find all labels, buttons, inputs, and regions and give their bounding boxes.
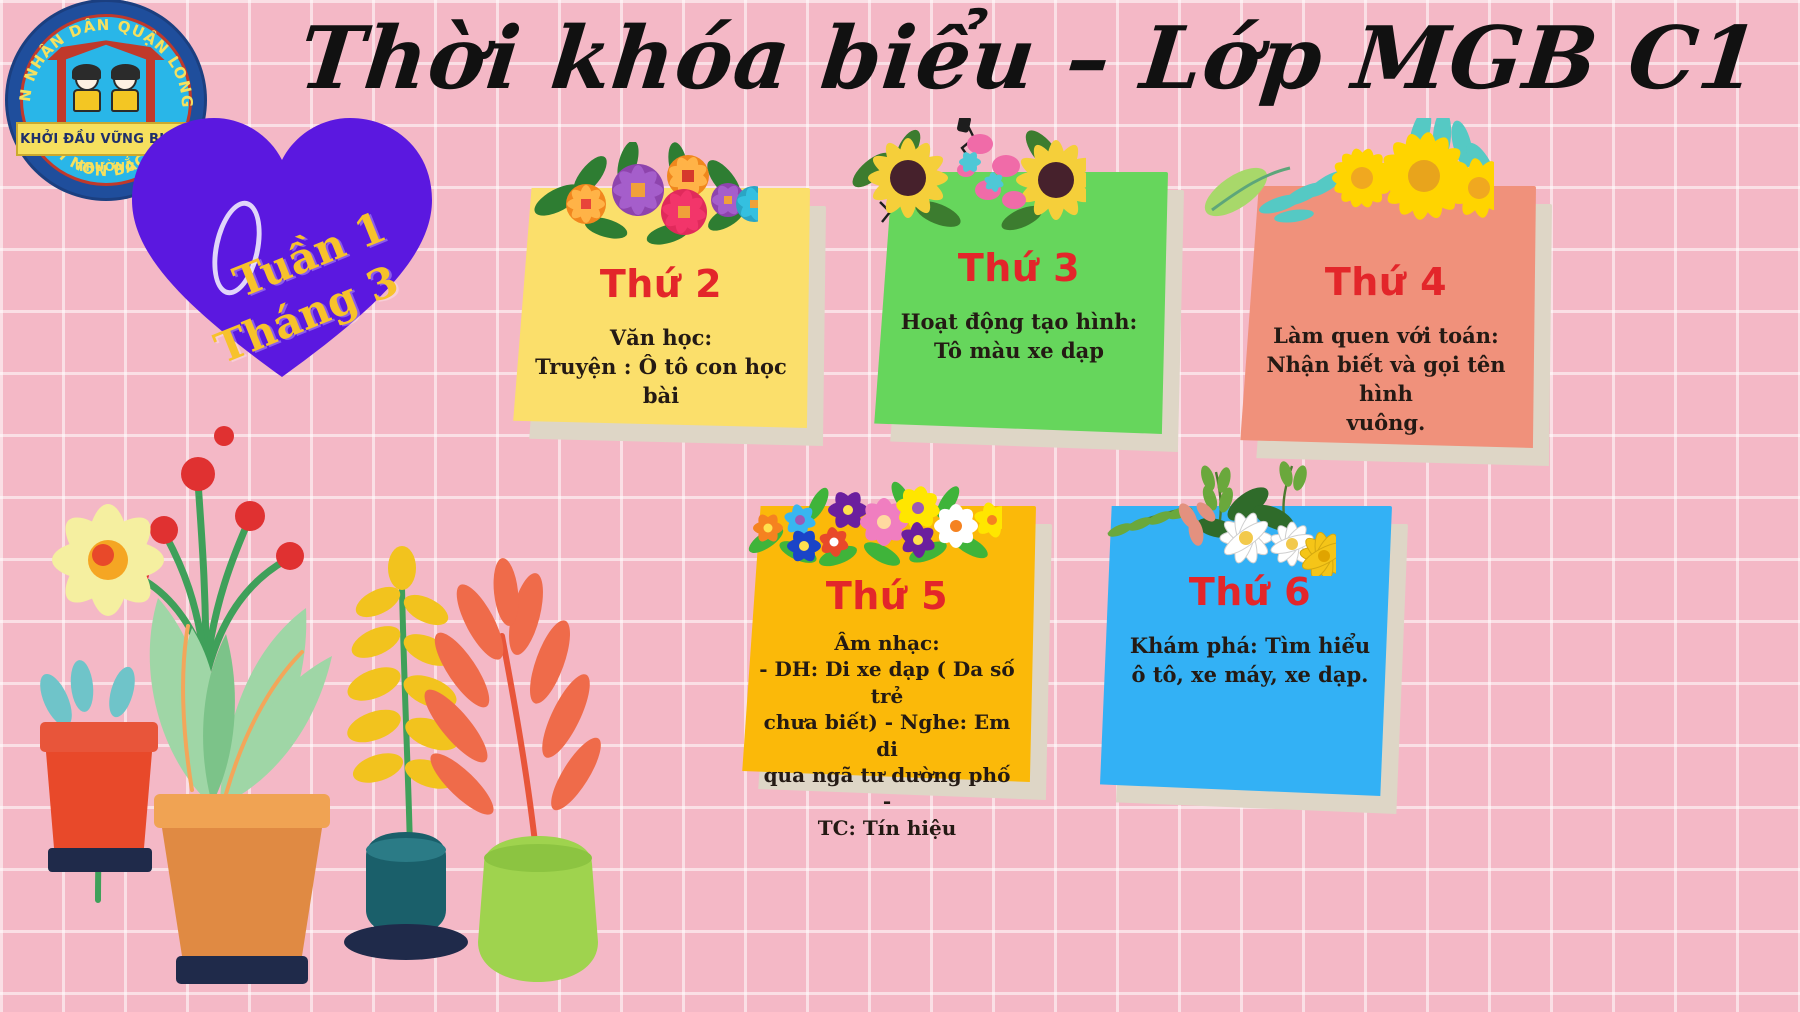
body-line: Hoạt động tạo hình: — [901, 308, 1138, 337]
body-line: Âm nhạc: — [756, 630, 1018, 656]
body-line: Tô màu xe dạp — [901, 337, 1138, 366]
day-card-thu-6[interactable]: Thứ 6 Khám phá: Tìm hiểu ô tô, xe máy, x… — [1100, 506, 1392, 796]
body-line: Nhận biết và gọi tên hình — [1254, 351, 1518, 409]
day-body: Làm quen với toán: Nhận biết và gọi tên … — [1254, 322, 1518, 438]
day-heading: Thứ 4 — [1325, 260, 1447, 304]
week-badge: Tuần 1 Tháng 3 — [132, 112, 432, 382]
body-line: Làm quen với toán: — [1254, 322, 1518, 351]
day-card-thu-5[interactable]: Thứ 5 Âm nhạc: - DH: Di xe dạp ( Da số t… — [730, 506, 1036, 782]
day-body: Khám phá: Tìm hiểu ô tô, xe máy, xe dạp. — [1130, 632, 1370, 690]
schedule-poster: ỦY BAN NHÂN DÂN QUẬN LONG BIÊN MẦM NON B… — [0, 0, 1800, 1012]
body-line: ô tô, xe máy, xe dạp. — [1130, 661, 1370, 690]
day-heading: Thứ 2 — [600, 262, 722, 306]
day-heading: Thứ 5 — [826, 574, 948, 618]
page-title: Thời khóa biểu – Lớp MGB C1 — [295, 14, 1364, 104]
body-line: vuông. — [1254, 409, 1518, 438]
body-line: Văn học: — [535, 324, 787, 353]
day-body: Âm nhạc: - DH: Di xe dạp ( Da số trẻ chư… — [756, 630, 1018, 841]
day-card-thu-3[interactable]: Thứ 3 Hoạt động tạo hình: Tô màu xe dạp — [862, 172, 1168, 434]
body-line: - DH: Di xe dạp ( Da số trẻ — [756, 656, 1018, 709]
day-heading: Thứ 6 — [1189, 570, 1311, 614]
day-body: Hoạt động tạo hình: Tô màu xe dạp — [901, 308, 1138, 366]
potted-plants-illustration — [10, 370, 670, 1012]
body-line: Khám phá: Tìm hiểu — [1130, 632, 1370, 661]
body-line: TC: Tín hiệu — [756, 815, 1018, 841]
body-line: chưa biết) - Nghe: Em di — [756, 709, 1018, 762]
day-card-thu-4[interactable]: Thứ 4 Làm quen với toán: Nhận biết và gọ… — [1228, 186, 1536, 448]
logo-child-girl-icon — [68, 67, 106, 118]
day-heading: Thứ 3 — [958, 246, 1080, 290]
logo-child-boy-icon — [106, 67, 144, 118]
logo-post-left — [57, 58, 66, 126]
body-line: qua ngã tư dường phố - — [756, 762, 1018, 815]
